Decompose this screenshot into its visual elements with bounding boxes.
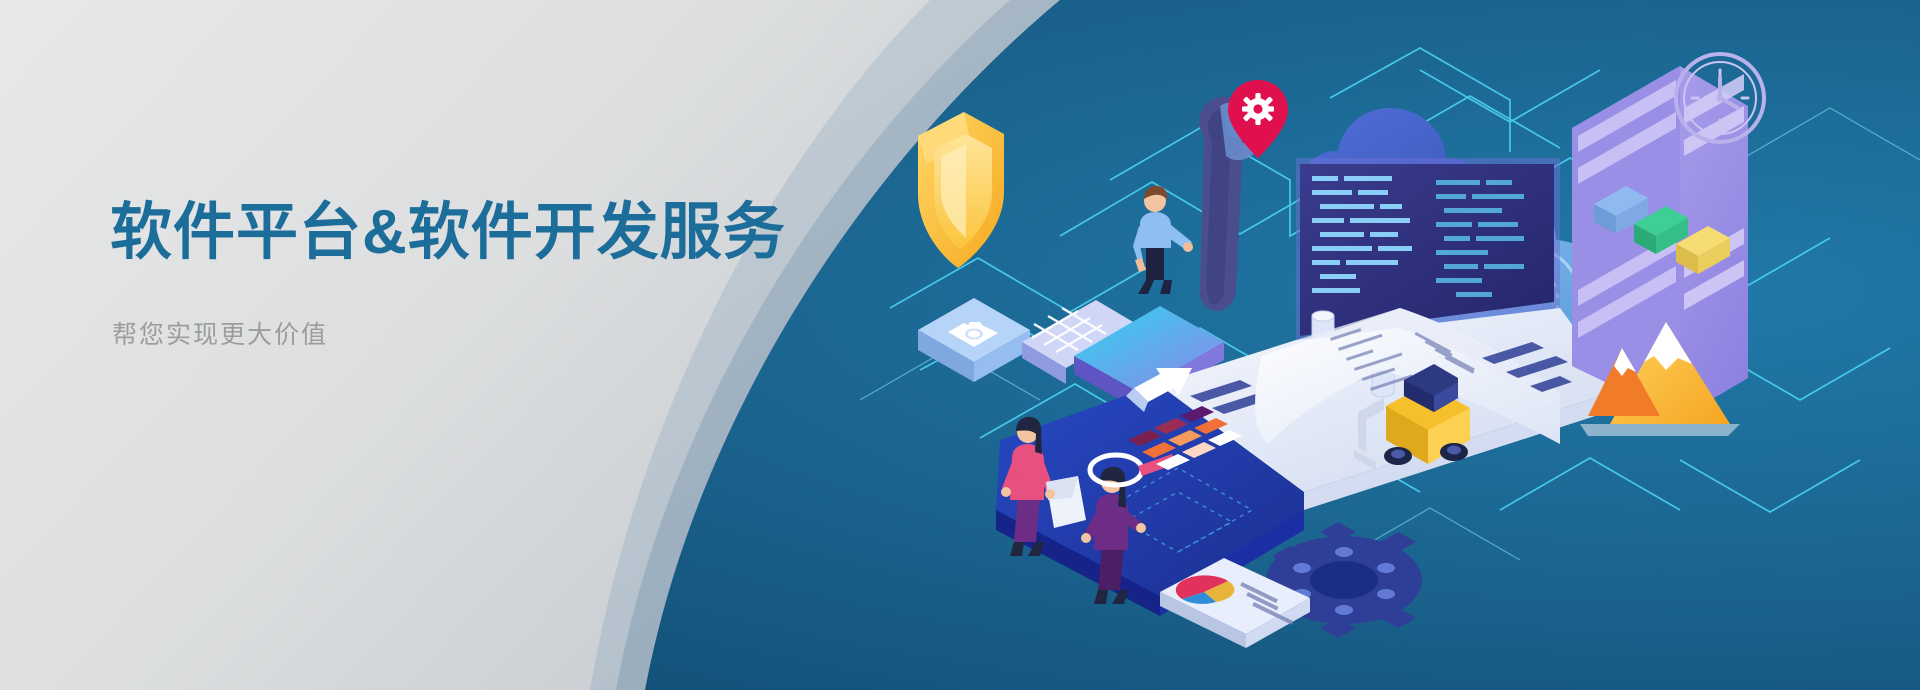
- camera-icon: [918, 298, 1030, 382]
- banner-copy: 软件平台&软件开发服务 帮您实现更大价值: [110, 196, 870, 351]
- banner-headline: 软件平台&软件开发服务: [110, 196, 870, 269]
- engineer-figure: [1133, 186, 1193, 294]
- banner-subheadline: 帮您实现更大价值: [112, 315, 870, 351]
- hero-illustration: [860, 40, 1920, 660]
- hero-banner: 软件平台&软件开发服务 帮您实现更大价值: [0, 0, 1920, 690]
- shield-icon: [918, 112, 1004, 268]
